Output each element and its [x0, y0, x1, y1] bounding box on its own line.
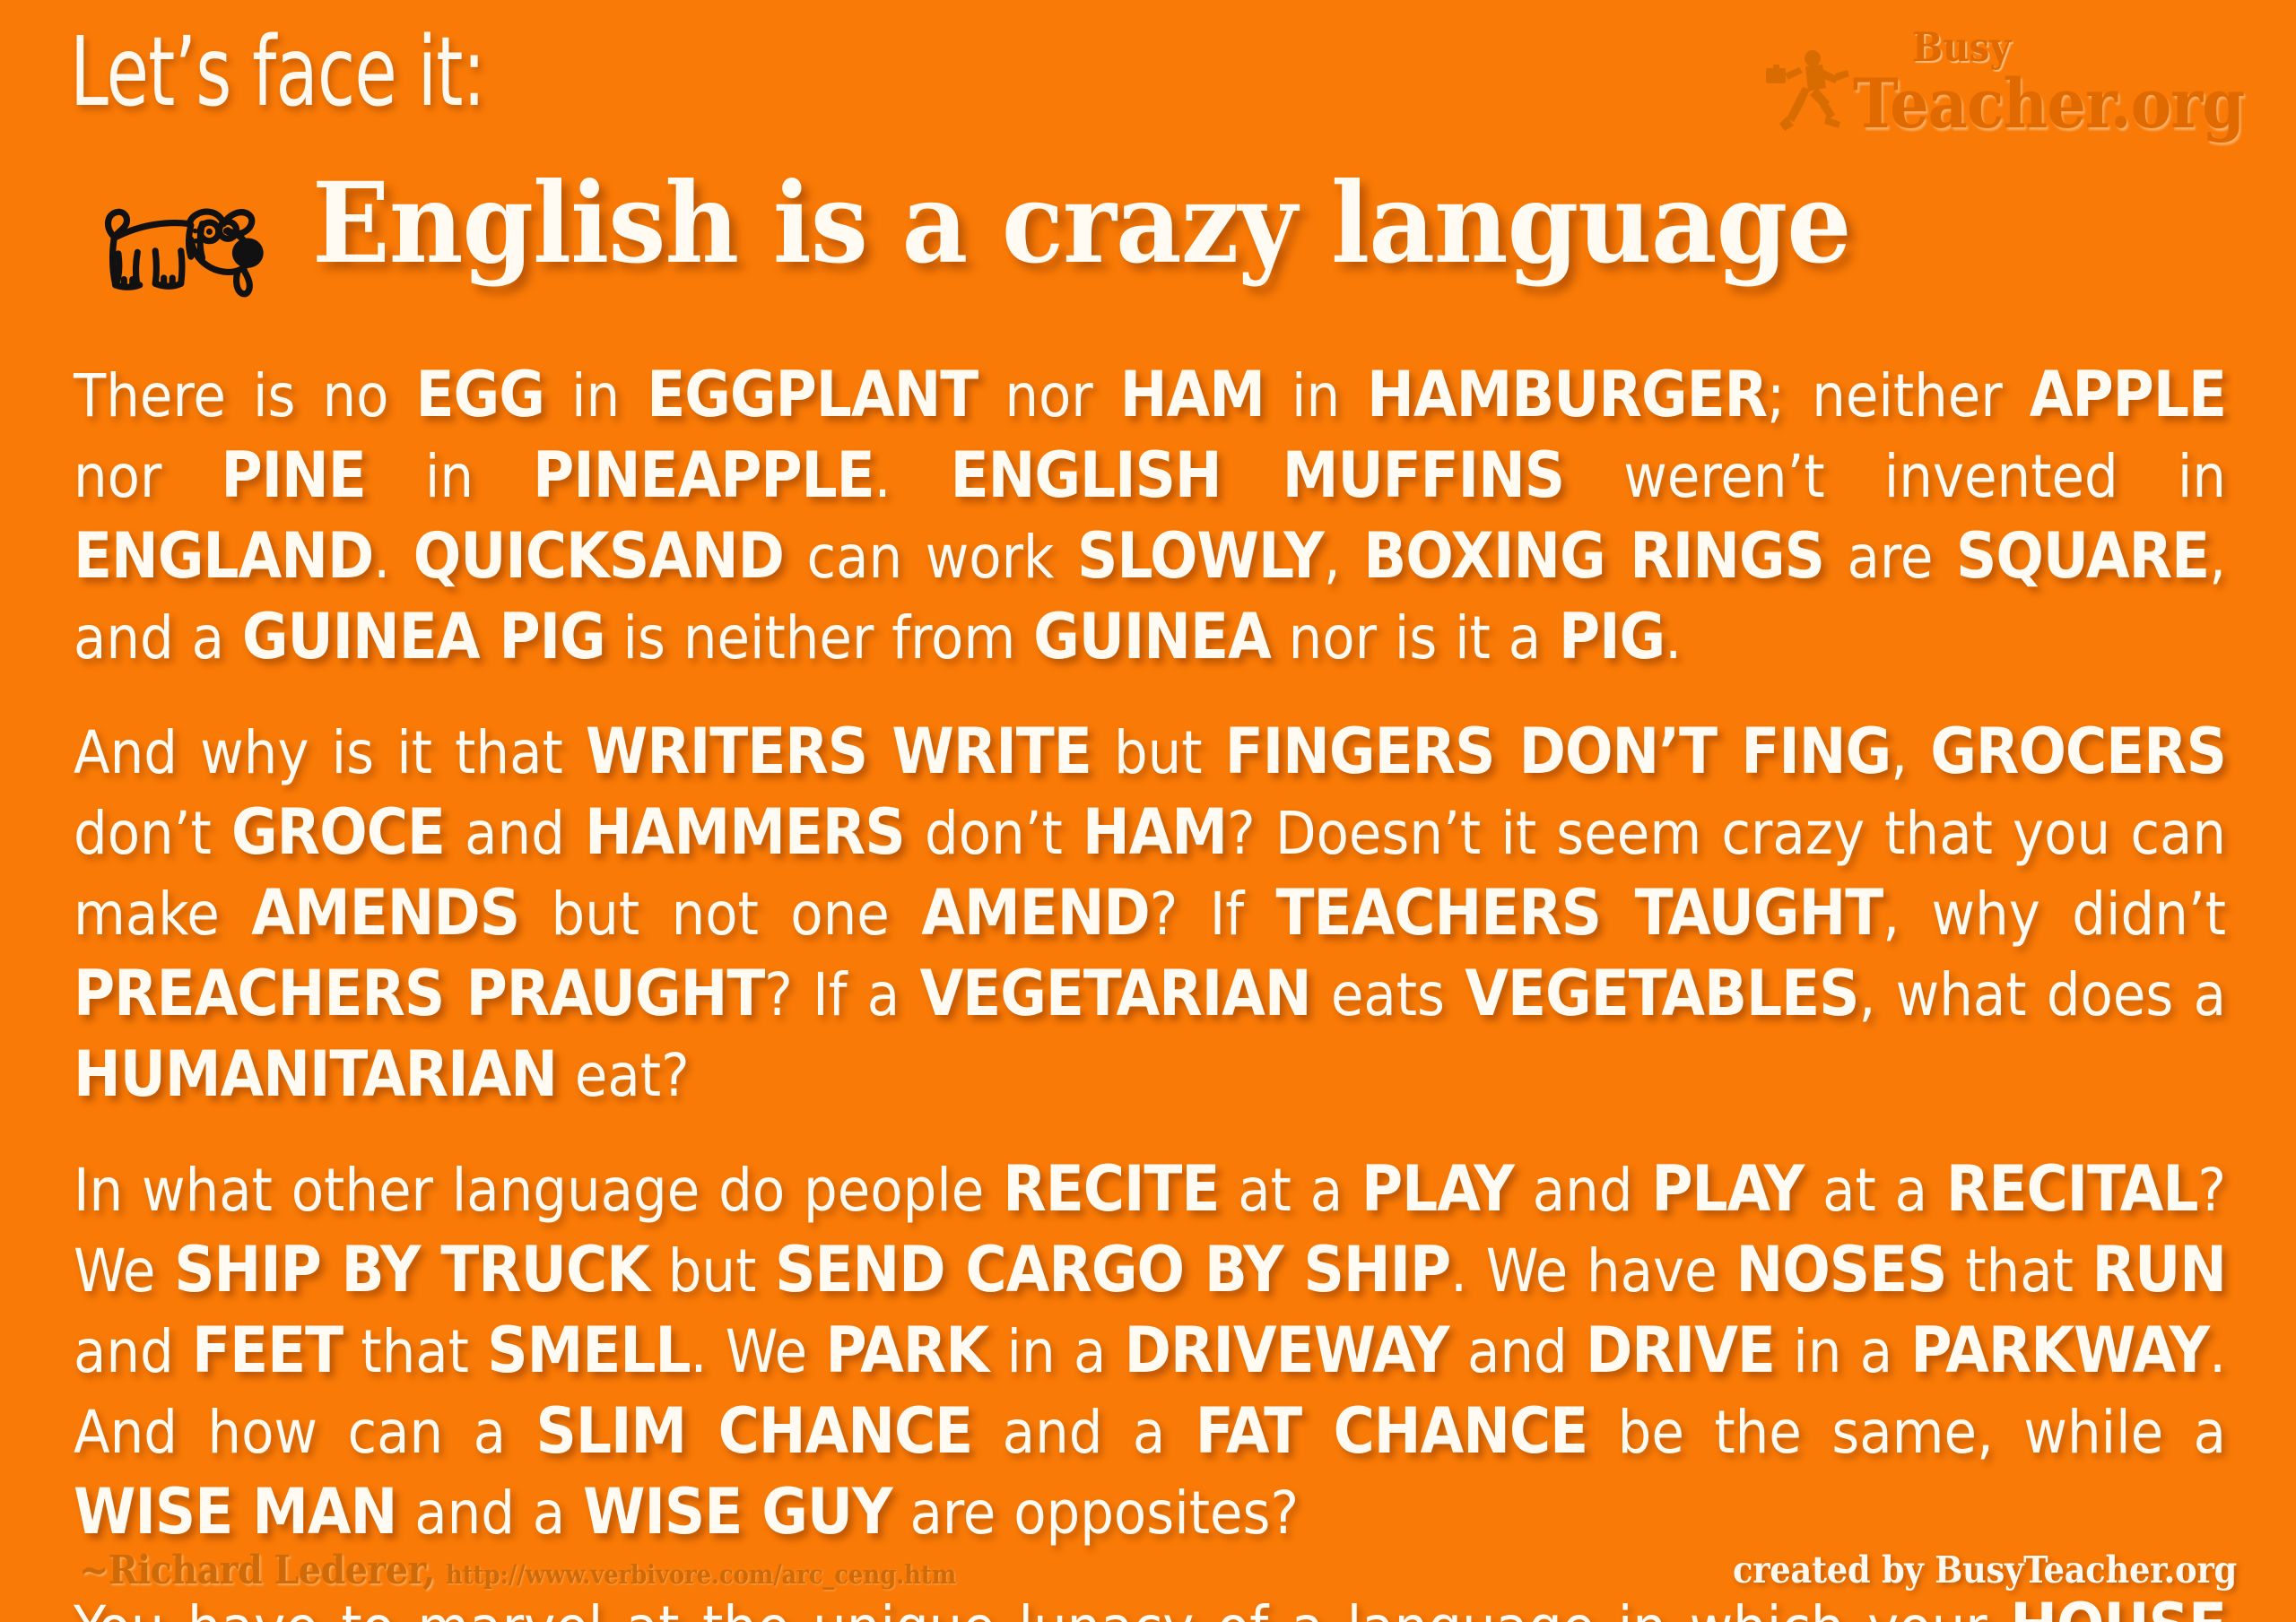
source-url[interactable]: http://www.verbivore.com/arc_ceng.htm [446, 1559, 956, 1590]
busyteacher-logo[interactable]: Busy Teacher.org [1763, 38, 2244, 138]
paragraph-2: And why is it that WRITERS WRITE but FIN… [74, 712, 2226, 1115]
cartoon-dog-icon [70, 158, 276, 301]
paragraph-1: There is no EGG in EGGPLANT nor HAM in H… [74, 355, 2226, 678]
logo-busy-text: Busy [1912, 27, 2011, 67]
running-teacher-icon [1763, 47, 1849, 136]
author-name: ~Richard Lederer, [79, 1548, 435, 1593]
source-credit: ~Richard Lederer, http://www.verbivore.c… [79, 1548, 956, 1593]
poster-header: Let’s face it: [0, 0, 2296, 341]
poster-body: There is no EGG in EGGPLANT nor HAM in H… [74, 355, 2226, 1622]
paragraph-3: In what other language do people RECITE … [74, 1149, 2226, 1553]
logo-wordmark: Busy Teacher.org [1853, 70, 2244, 138]
logo-teacher-text: Teacher.org [1853, 64, 2244, 143]
poster-footer: ~Richard Lederer, http://www.verbivore.c… [0, 1543, 2296, 1606]
poster-kicker: Let’s face it: [70, 25, 485, 121]
page-title: English is a crazy language [312, 169, 1851, 280]
creator-credit: created by BusyTeacher.org [1733, 1548, 2237, 1592]
poster-canvas: Let’s face it: [0, 0, 2296, 1622]
